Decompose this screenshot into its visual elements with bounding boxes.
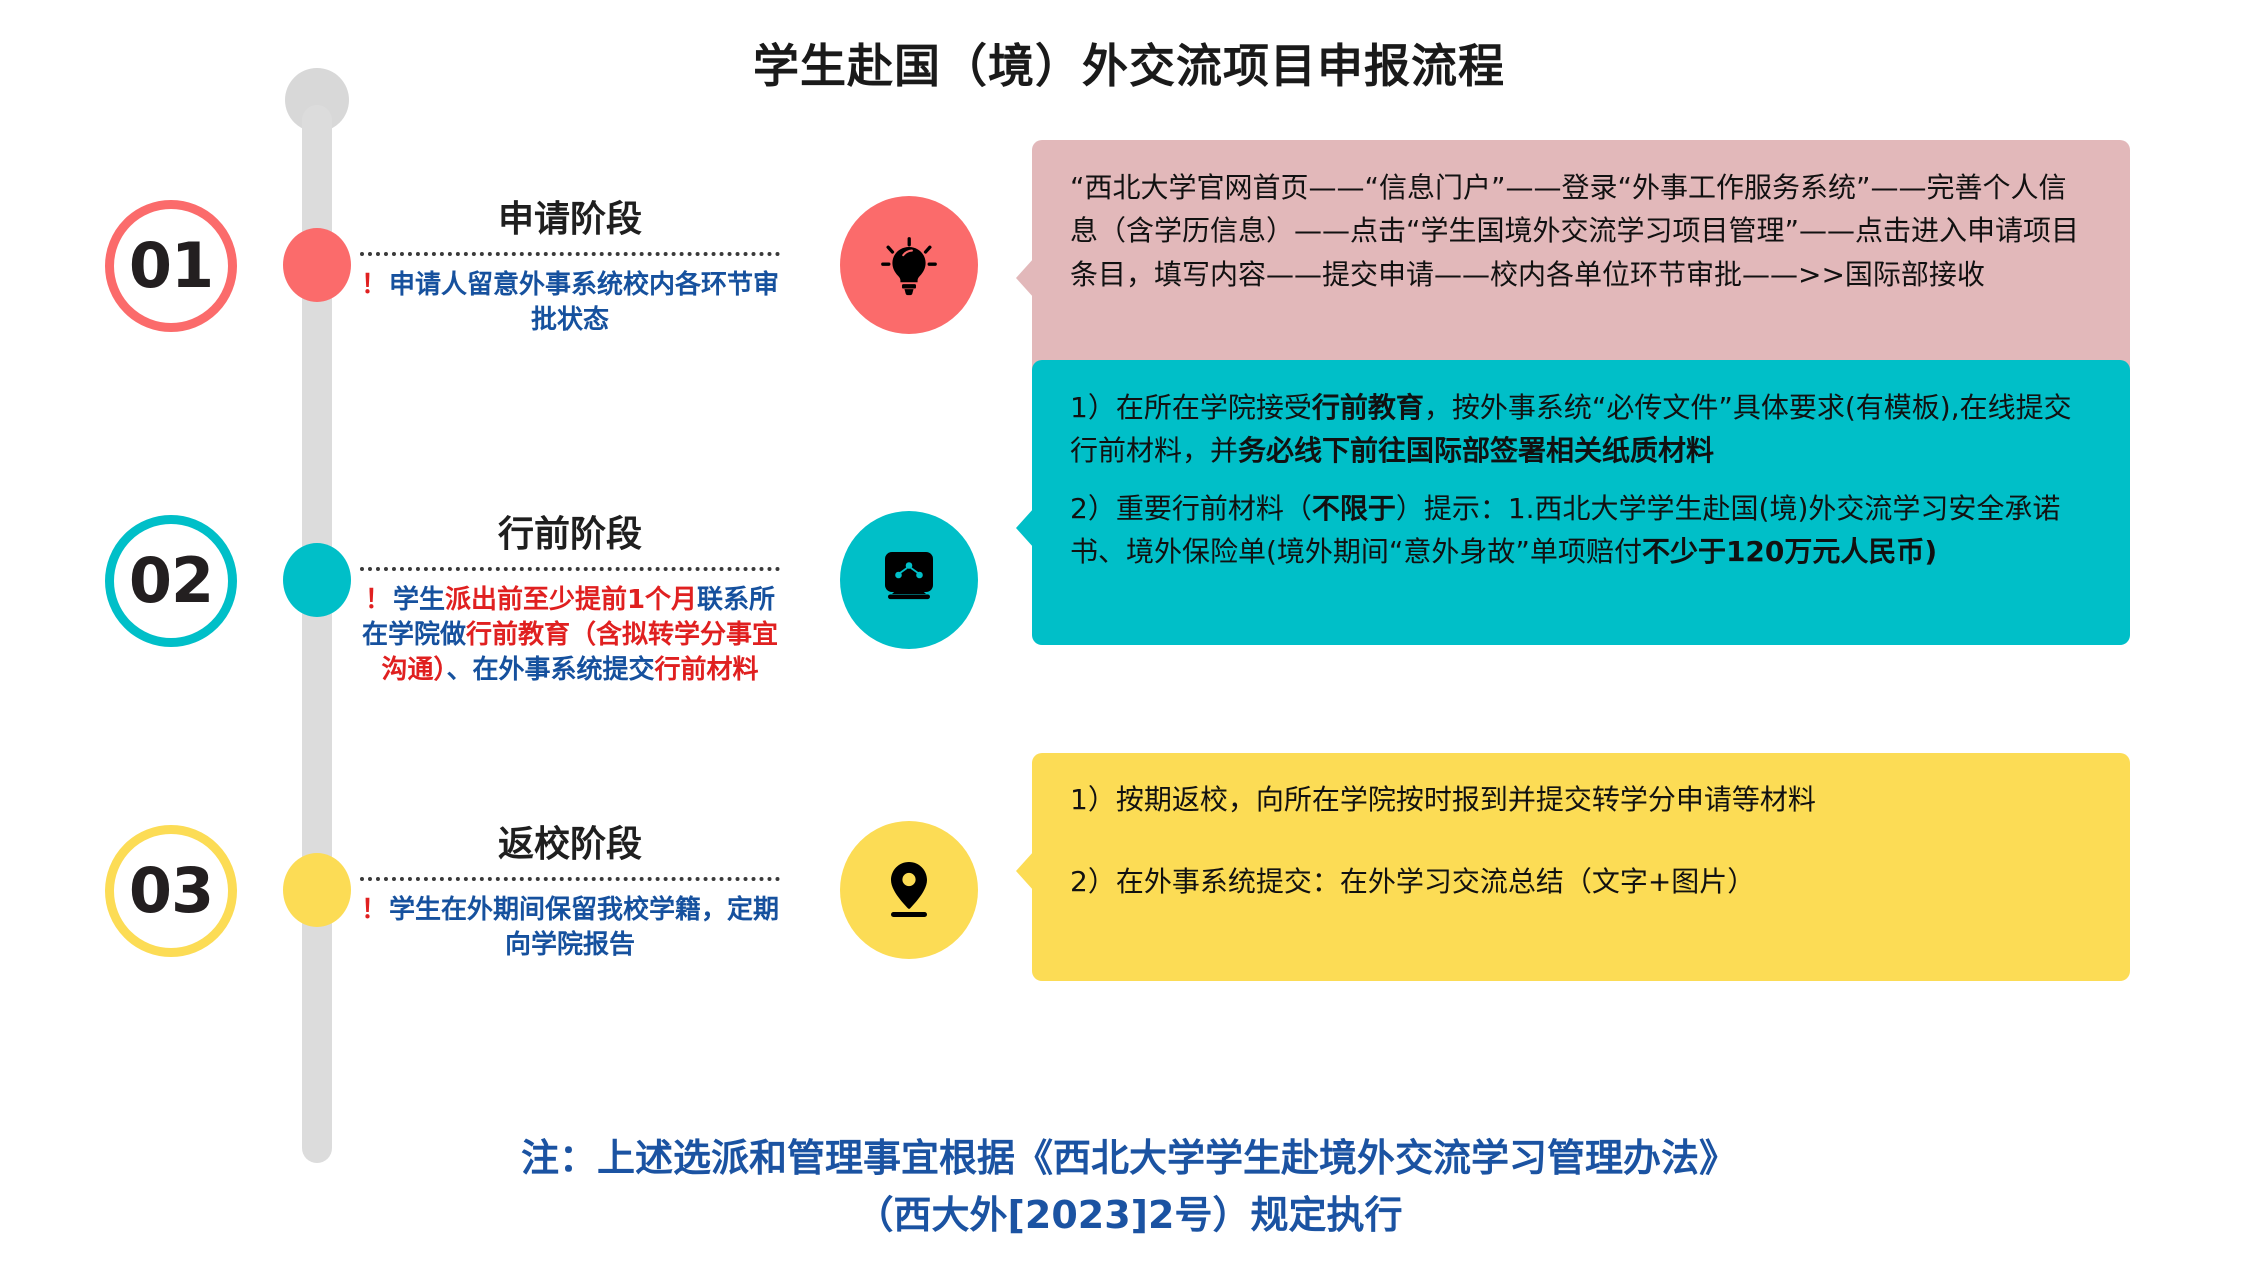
callout-paragraph: 2）重要行前材料（不限于）提示：1.西北大学学生赴国(境)外交流学习安全承诺书、… (1070, 487, 2092, 574)
step-icon-circle-03 (840, 821, 978, 959)
note-segment: 在外事系统提交 (473, 655, 655, 685)
stage-note-02: ！学生派出前至少提前1个月联系所在学院做行前教育（含拟转学分事宜沟通）、在外事系… (360, 583, 780, 688)
stage-divider-02 (360, 567, 780, 571)
callout-paragraph: 2）在外事系统提交：在外学习交流总结（文字+图片） (1070, 861, 2092, 903)
callout-segment: “西北大学官网首页——“信息门户”——登录“外事工作服务系统”——完善个人信息（… (1070, 171, 2079, 291)
step-content-callout-03: 1）按期返校，向所在学院按时报到并提交转学分申请等材料 2）在外事系统提交：在外… (1032, 753, 2130, 981)
timeline-dot-02 (283, 543, 351, 617)
step-number-ring-01: 01 (105, 200, 237, 332)
map-pin-icon (880, 858, 938, 922)
warning-bang: ！ (361, 895, 387, 925)
callout-paragraph: 1）在所在学院接受行前教育，按外事系统“必传文件”具体要求(有模板),在线提交行… (1070, 386, 2092, 473)
note-segment: 行前教育 (466, 620, 570, 650)
infographic-page: 学生赴国（境）外交流项目申报流程 01 申请阶段 ！申请人留意外事系统校内各环节… (0, 0, 2258, 1281)
stage-divider-01 (360, 252, 780, 256)
callout-segment: 2）重要行前材料（ (1070, 492, 1312, 525)
callout-segment: 2）在外事系统提交：在外学习交流总结（文字+图片） (1070, 865, 1755, 898)
callout-tail-01 (1016, 258, 1034, 298)
note-segment: 申请人留意外事系统校内各环节审批状态 (389, 270, 779, 335)
stage-divider-03 (360, 877, 780, 881)
step-number-ring-02: 02 (105, 515, 237, 647)
callout-tail-02 (1016, 508, 1034, 548)
stage-block-03: 返校阶段 ！学生在外期间保留我校学籍，定期向学院报告 (360, 825, 780, 963)
step-number-ring-03: 03 (105, 825, 237, 957)
callout-segment: 行前教育 (1312, 391, 1424, 424)
footer-note: 注：上述选派和管理事宜根据《西北大学学生赴境外交流学习管理办法》 （西大外[20… (0, 1130, 2258, 1244)
note-segment: 派出前至少提前1个月 (445, 585, 697, 615)
stage-note-03: ！学生在外期间保留我校学籍，定期向学院报告 (360, 893, 780, 963)
step-icon-circle-01 (840, 196, 978, 334)
stage-block-01: 申请阶段 ！申请人留意外事系统校内各环节审批状态 (360, 200, 780, 338)
callout-paragraph: 1）按期返校，向所在学院按时报到并提交转学分申请等材料 (1070, 779, 2092, 821)
note-segment: 、 (446, 655, 472, 685)
timeline-dot-03 (283, 853, 351, 927)
footer-line-1: 注：上述选派和管理事宜根据《西北大学学生赴境外交流学习管理办法》 (0, 1130, 2258, 1187)
stage-block-02: 行前阶段 ！学生派出前至少提前1个月联系所在学院做行前教育（含拟转学分事宜沟通）… (360, 515, 780, 688)
stage-name-01: 申请阶段 (360, 200, 780, 252)
warning-bang: ！ (361, 270, 387, 300)
warning-bang: ！ (365, 585, 391, 615)
callout-segment: 务必线下前往国际部签署相关纸质材料 (1238, 434, 1714, 467)
callout-segment: 1）在所在学院接受 (1070, 391, 1312, 424)
step-icon-circle-02 (840, 511, 978, 649)
note-segment: 学生 (393, 585, 445, 615)
step-number-label-03: 03 (129, 860, 213, 922)
stage-note-01: ！申请人留意外事系统校内各环节审批状态 (360, 268, 780, 338)
presentation-board-icon (874, 549, 944, 611)
footer-line-2: （西大外[2023]2号）规定执行 (0, 1187, 2258, 1244)
step-number-label-02: 02 (129, 550, 213, 612)
note-segment: 学生在外期间保留我校学籍，定期向学院报告 (389, 895, 779, 960)
callout-paragraph: “西北大学官网首页——“信息门户”——登录“外事工作服务系统”——完善个人信息（… (1070, 166, 2092, 296)
callout-segment: 不限于 (1312, 492, 1396, 525)
note-segment: 行前材料 (655, 655, 759, 685)
timeline-dot-01 (283, 228, 351, 302)
stage-name-02: 行前阶段 (360, 515, 780, 567)
stage-name-03: 返校阶段 (360, 825, 780, 877)
step-content-callout-02: 1）在所在学院接受行前教育，按外事系统“必传文件”具体要求(有模板),在线提交行… (1032, 360, 2130, 645)
callout-tail-03 (1016, 851, 1034, 891)
lightbulb-icon (876, 232, 942, 298)
callout-segment: 1）按期返校，向所在学院按时报到并提交转学分申请等材料 (1070, 783, 1816, 816)
callout-segment: 不少于120万元人民币) (1642, 535, 1937, 568)
step-number-label-01: 01 (129, 235, 213, 297)
